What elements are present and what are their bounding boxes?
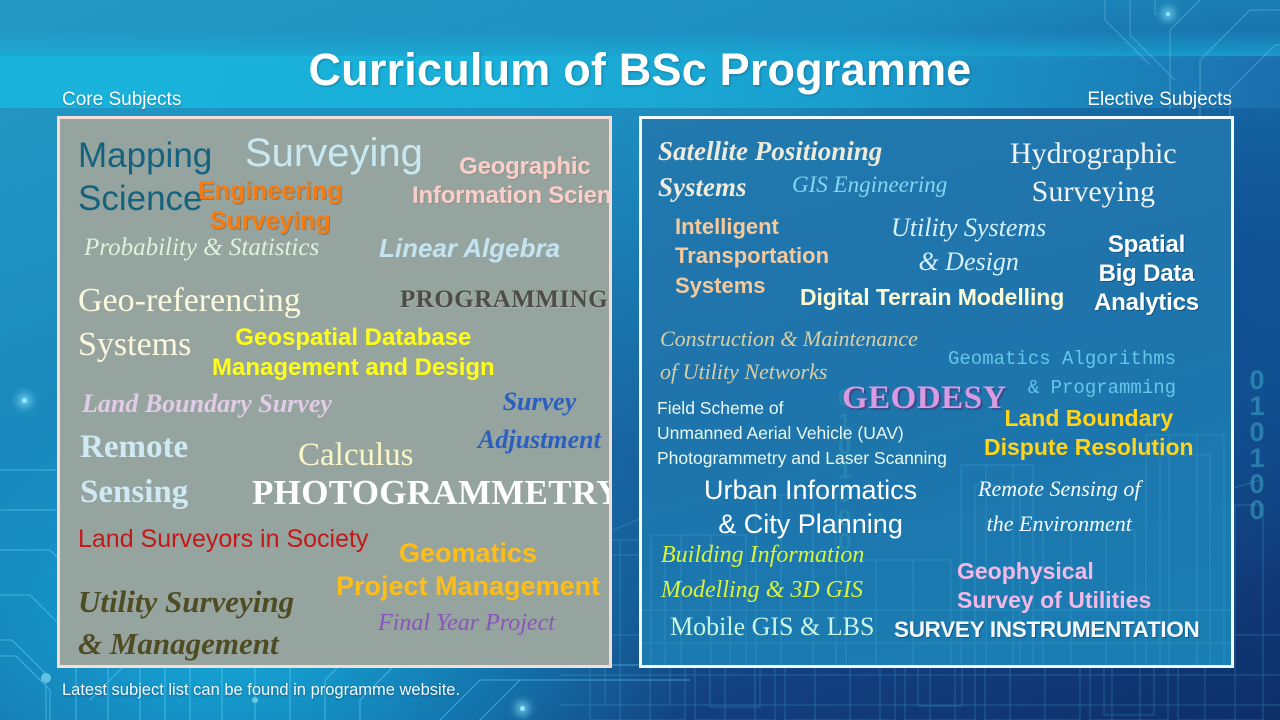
binary-decoration: 0 1 0 1 0 0 xyxy=(1238,368,1276,523)
word-remote-sensing[interactable]: Remote Sensing xyxy=(80,425,188,514)
glow-dot xyxy=(22,398,27,403)
elective-subjects-panel: 0 1 0 1 0 0 0 Satellite Positioning Syst… xyxy=(639,116,1234,668)
word-linear-algebra[interactable]: Linear Algebra xyxy=(379,235,560,262)
core-subjects-panel: Mapping Science Surveying Engineering Su… xyxy=(57,116,612,668)
footnote-text: Latest subject list can be found in prog… xyxy=(62,681,460,700)
core-subjects-caption: Core Subjects xyxy=(62,89,181,111)
word-land-surveyors-in-society[interactable]: Land Surveyors in Society xyxy=(78,527,368,553)
word-survey-adjustment[interactable]: Survey Adjustment xyxy=(478,383,601,458)
word-calculus[interactable]: Calculus xyxy=(298,439,413,473)
binary-digit: 1 xyxy=(1238,394,1276,420)
binary-digit: 0 xyxy=(1238,472,1276,498)
word-building-information-modelling[interactable]: Building Information Modelling & 3D GIS xyxy=(661,538,864,608)
word-final-year-project[interactable]: Final Year Project xyxy=(378,611,555,635)
word-geographic-information-science[interactable]: Geographic Information Science xyxy=(412,152,612,211)
binary-digit: 0 xyxy=(1238,498,1276,524)
binary-digit: 0 xyxy=(1238,420,1276,446)
word-programming[interactable]: PROGRAMMING xyxy=(400,287,608,313)
word-gis-engineering[interactable]: GIS Engineering xyxy=(792,173,947,196)
word-surveying[interactable]: Surveying xyxy=(245,133,423,174)
glow-dot xyxy=(1166,12,1170,16)
word-land-boundary-dispute-resolution[interactable]: Land Boundary Dispute Resolution xyxy=(984,404,1194,463)
word-survey-instrumentation[interactable]: SURVEY INSTRUMENTATION xyxy=(894,619,1200,642)
word-utility-systems-design[interactable]: Utility Systems & Design xyxy=(891,211,1046,279)
word-digital-terrain-modelling[interactable]: Digital Terrain Modelling xyxy=(800,286,1064,309)
word-geomatics-project-management[interactable]: Geomatics Project Management xyxy=(336,537,600,603)
word-field-scheme-uav[interactable]: Field Scheme of Unmanned Aerial Vehicle … xyxy=(657,396,947,471)
word-utility-surveying-management[interactable]: Utility Surveying & Management xyxy=(78,581,294,665)
word-construction-maintenance-utility-networks[interactable]: Construction & Maintenance of Utility Ne… xyxy=(660,322,918,388)
binary-digit: 1 xyxy=(1238,446,1276,472)
word-photogrammetry[interactable]: PHOTOGRAMMETRY xyxy=(252,475,612,511)
glow-dot xyxy=(520,706,525,711)
slide-canvas: 0 1 0 1 0 0 Curriculum of BSc Programme … xyxy=(0,0,1280,720)
word-spatial-big-data-analytics[interactable]: Spatial Big Data Analytics xyxy=(1094,231,1199,317)
word-urban-informatics-city-planning[interactable]: Urban Informatics & City Planning xyxy=(704,474,917,542)
word-remote-sensing-environment[interactable]: Remote Sensing of the Environment xyxy=(978,471,1141,541)
word-geophysical-survey-utilities[interactable]: Geophysical Survey of Utilities xyxy=(957,557,1151,616)
word-mobile-gis-lbs[interactable]: Mobile GIS & LBS xyxy=(670,614,874,641)
word-land-boundary-survey[interactable]: Land Boundary Survey xyxy=(82,391,332,418)
word-hydrographic-surveying[interactable]: Hydrographic Surveying xyxy=(1010,135,1177,210)
word-mapping-science[interactable]: Mapping Science xyxy=(78,135,212,220)
word-engineering-surveying[interactable]: Engineering Surveying xyxy=(198,176,342,236)
elective-subjects-caption: Elective Subjects xyxy=(1087,89,1232,111)
word-probability-statistics[interactable]: Probability & Statistics xyxy=(84,235,319,261)
word-geospatial-database[interactable]: Geospatial Database Management and Desig… xyxy=(212,323,495,383)
